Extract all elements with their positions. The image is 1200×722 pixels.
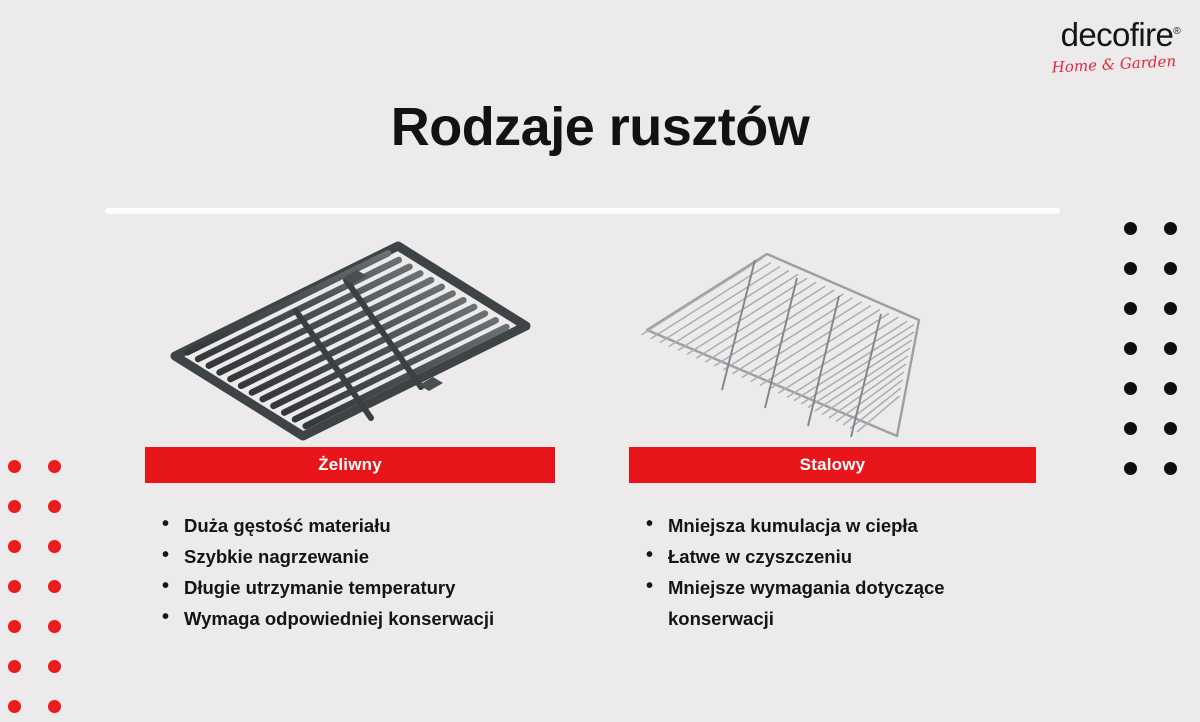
bullet-item: Wymaga odpowiedniej konserwacji [162, 603, 555, 634]
brand-wordmark-text: decofire [1061, 16, 1174, 53]
decor-dot [1164, 422, 1177, 435]
cast-iron-grate-icon [145, 240, 555, 445]
column-steel: Stalowy Mniejsza kumulacja w ciepłaŁatwe… [629, 240, 1036, 634]
steel-grate-icon [629, 240, 1036, 445]
decor-dot [1164, 382, 1177, 395]
brand-logo: decofire® Home & Garden [1015, 18, 1180, 80]
decor-dot [1164, 302, 1177, 315]
banner-steel: Stalowy [629, 447, 1036, 483]
brand-wordmark: decofire® [1061, 18, 1180, 51]
decor-dot [48, 540, 61, 553]
red-dot-grid [8, 460, 70, 722]
bullet-item: Mniejsze wymagania dotyczące konserwacji [646, 572, 1036, 634]
decor-dot [1124, 382, 1137, 395]
decor-dot [48, 620, 61, 633]
decor-dot [48, 580, 61, 593]
steel-grate-figure [629, 240, 1036, 445]
bullet-item: Szybkie nagrzewanie [162, 541, 555, 572]
decor-dot [1124, 302, 1137, 315]
decor-dot [1164, 342, 1177, 355]
decor-dot [1164, 462, 1177, 475]
decor-dot [1124, 462, 1137, 475]
decor-dot [8, 620, 21, 633]
decor-dot [48, 700, 61, 713]
black-dot-grid [1124, 222, 1190, 484]
bullet-list-cast-iron: Duża gęstość materiałuSzybkie nagrzewani… [145, 510, 555, 634]
decor-dot [8, 660, 21, 673]
brand-tagline: Home & Garden [1015, 54, 1177, 77]
bullet-list-steel: Mniejsza kumulacja w ciepłaŁatwe w czysz… [629, 510, 1036, 634]
decor-dot [8, 580, 21, 593]
bullet-item: Długie utrzymanie temperatury [162, 572, 555, 603]
decor-dot [8, 540, 21, 553]
banner-cast-iron: Żeliwny [145, 447, 555, 483]
decor-dot [48, 500, 61, 513]
decor-dot [8, 460, 21, 473]
slide-root: decofire® Home & Garden Rodzaje rusztów [0, 0, 1200, 720]
decor-dot [1164, 222, 1177, 235]
title-divider [105, 208, 1060, 214]
decor-dot [48, 460, 61, 473]
decor-dot [1124, 222, 1137, 235]
decor-dot [48, 660, 61, 673]
banner-label: Żeliwny [318, 455, 382, 475]
decor-dot [1124, 262, 1137, 275]
page-title: Rodzaje rusztów [0, 96, 1200, 158]
decor-dot [8, 500, 21, 513]
cast-iron-grate-figure [145, 240, 555, 445]
bullet-item: Mniejsza kumulacja w ciepła [646, 510, 1036, 541]
decor-dot [1124, 342, 1137, 355]
decor-dot [1164, 262, 1177, 275]
registered-trademark-icon: ® [1173, 26, 1180, 37]
decor-dot [1124, 422, 1137, 435]
bullet-item: Duża gęstość materiału [162, 510, 555, 541]
column-cast-iron: Żeliwny Duża gęstość materiałuSzybkie na… [145, 240, 555, 634]
bullet-item: Łatwe w czyszczeniu [646, 541, 1036, 572]
decor-dot [8, 700, 21, 713]
banner-label: Stalowy [800, 455, 866, 475]
